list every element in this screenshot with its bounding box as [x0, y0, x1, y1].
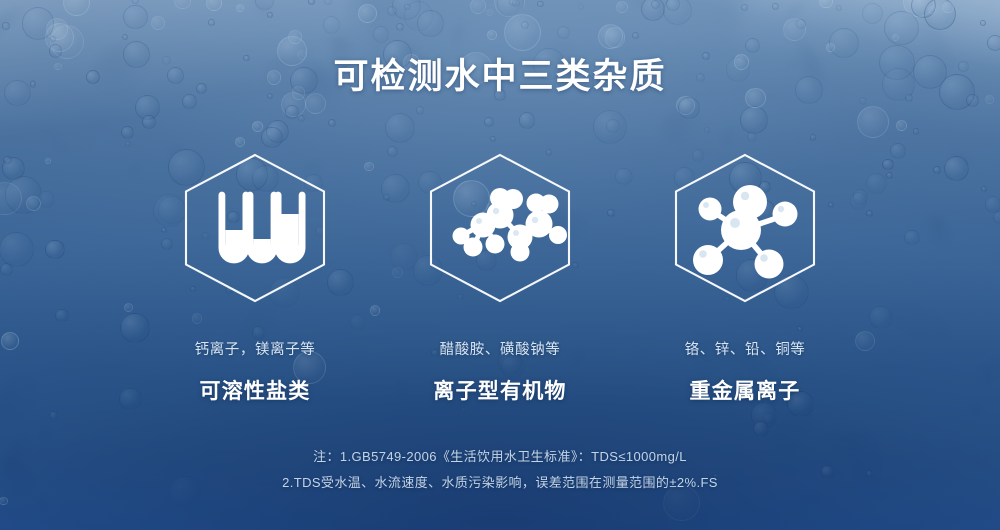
- page-title: 可检测水中三类杂质: [0, 48, 1000, 99]
- impurity-heading: 重金属离子: [690, 375, 801, 405]
- organic-molecule-hexagon-icon: [425, 152, 575, 304]
- impurity-columns: 钙离子，镁离子等 可溶性盐类: [150, 152, 850, 405]
- poster-canvas: 可检测水中三类杂质: [0, 0, 1000, 530]
- footnotes: 注：1.GB5749-2006《生活饮用水卫生标准》：TDS≤1000mg/L …: [0, 444, 1000, 496]
- impurity-heading: 离子型有机物: [433, 375, 566, 405]
- impurity-column-heavy-metals: 铬、锌、铅、铜等 重金属离子: [640, 152, 850, 405]
- footnote-line-2: 2.TDS受水温、水流速度、水质污染影响，误差范围在测量范围的±2%.FS: [0, 470, 1000, 496]
- test-tubes-hexagon-icon: [180, 152, 330, 304]
- impurity-column-salts: 钙离子，镁离子等 可溶性盐类: [150, 152, 360, 405]
- impurity-subtitle: 铬、锌、铅、铜等: [685, 338, 806, 359]
- impurity-subtitle: 醋酸胺、磺酸钠等: [440, 338, 561, 359]
- impurity-subtitle: 钙离子，镁离子等: [195, 338, 316, 359]
- impurity-heading: 可溶性盐类: [200, 375, 311, 405]
- heavy-metal-atom-hexagon-icon: [670, 152, 820, 304]
- impurity-column-organics: 醋酸胺、磺酸钠等 离子型有机物: [395, 152, 605, 405]
- footnote-line-1: 注：1.GB5749-2006《生活饮用水卫生标准》：TDS≤1000mg/L: [0, 444, 1000, 470]
